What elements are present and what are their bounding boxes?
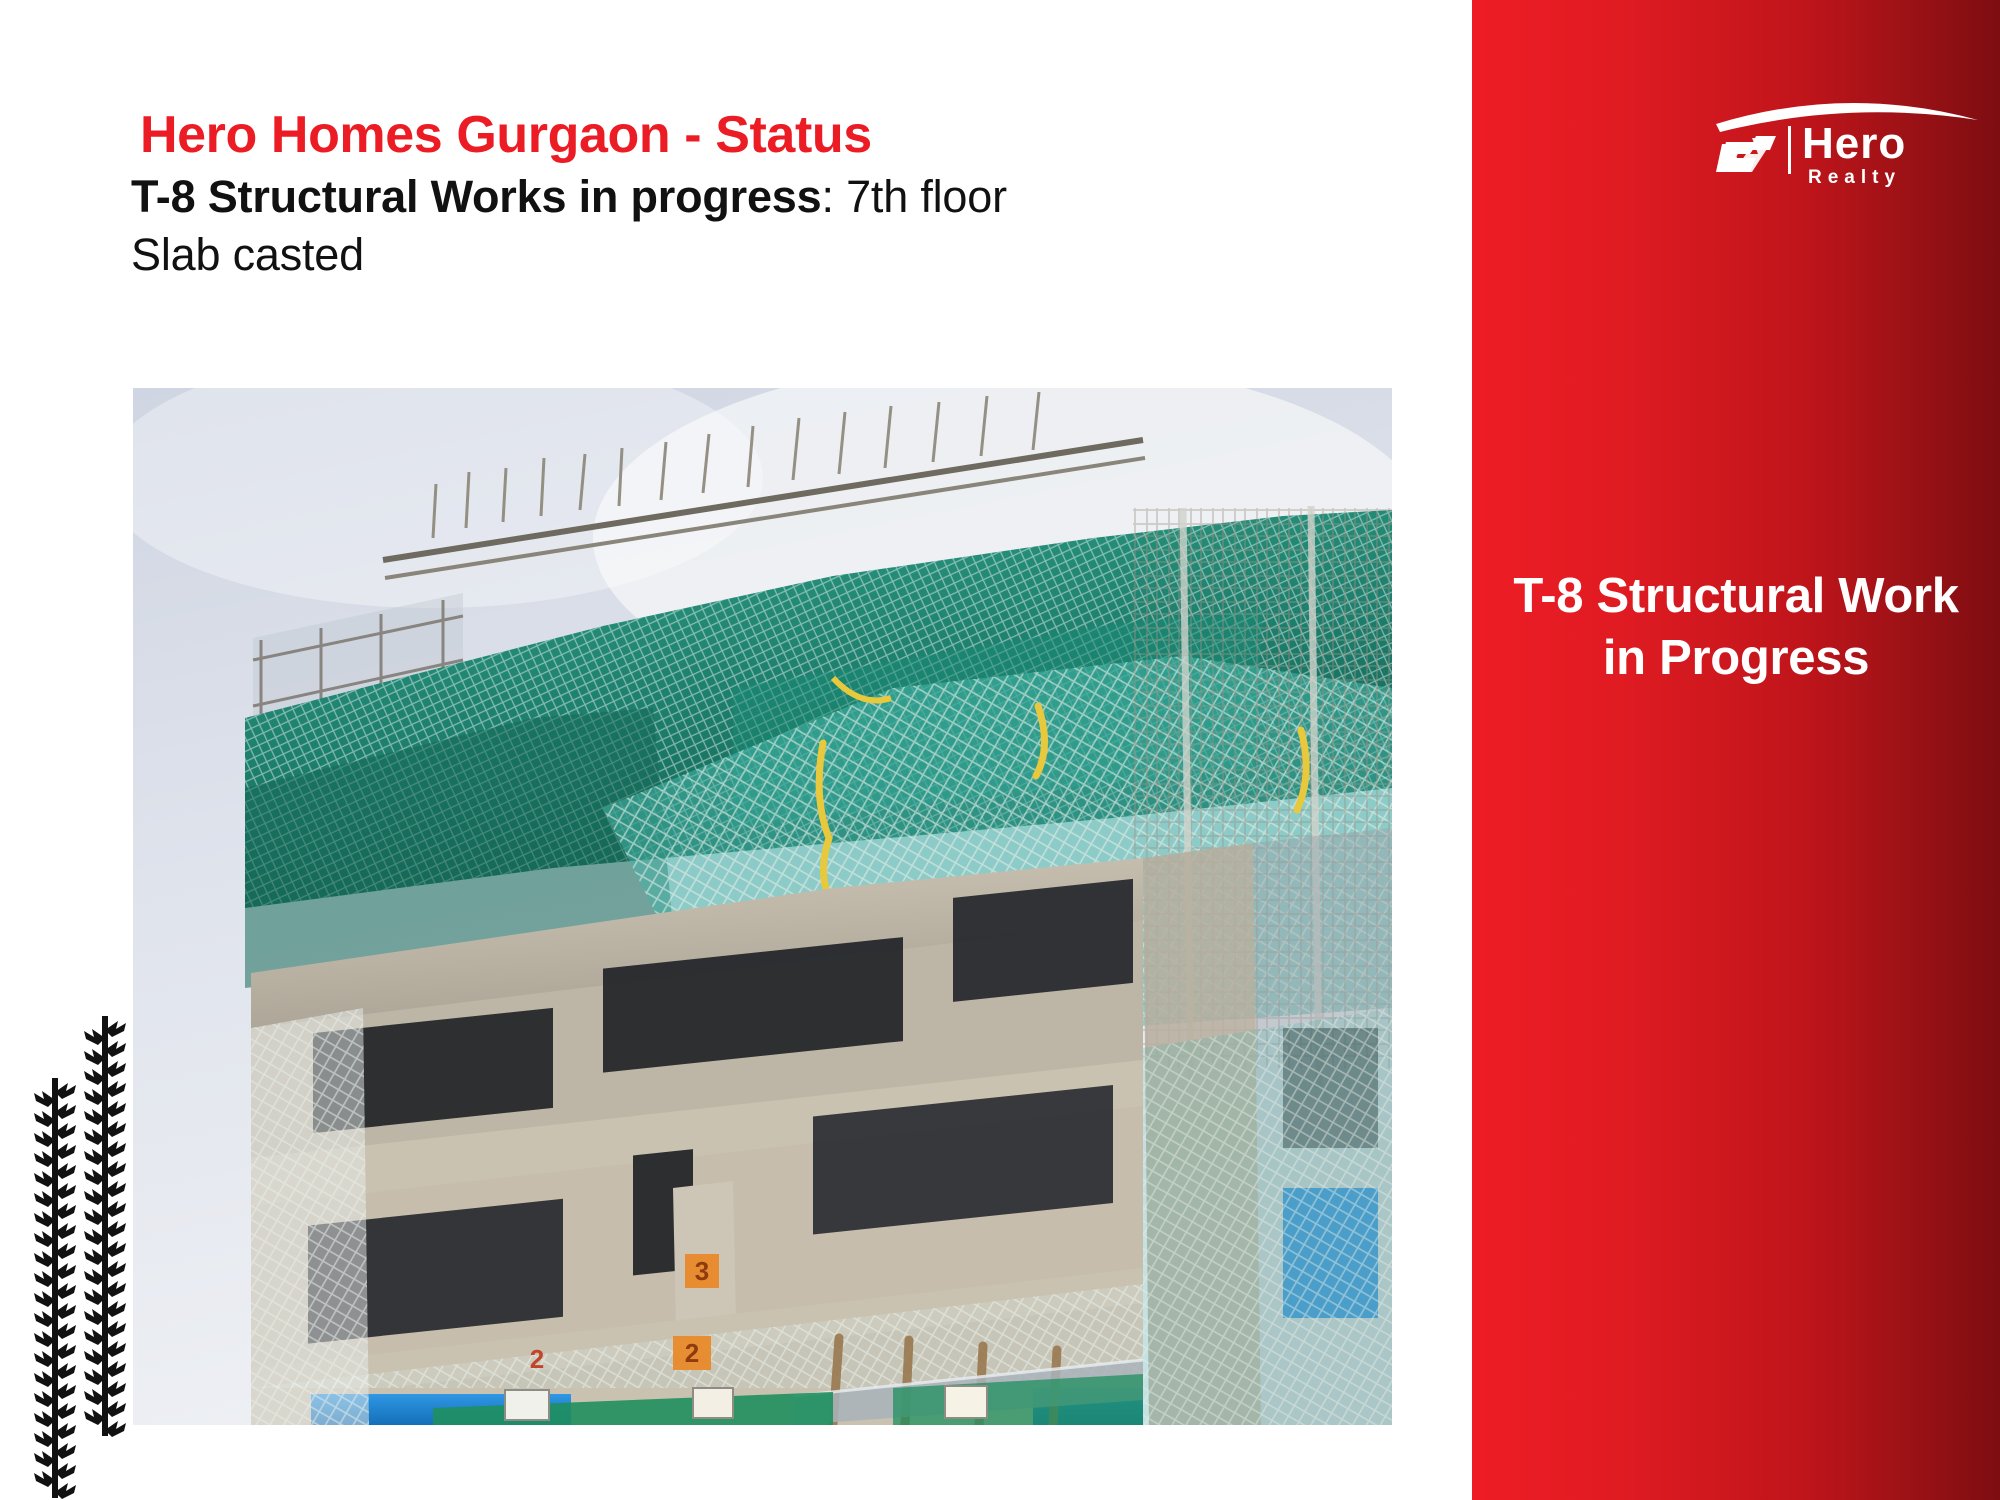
subtitle-second-line: Slab casted — [131, 229, 364, 280]
subtitle-bold-part: T-8 Structural Works in progress — [131, 171, 821, 222]
svg-text:Hero: Hero — [1802, 119, 1906, 168]
subtitle-separator: : — [821, 171, 846, 222]
svg-text:2: 2 — [530, 1344, 544, 1374]
svg-text:2: 2 — [685, 1338, 699, 1368]
page-title: Hero Homes Gurgaon - Status — [140, 105, 872, 165]
subtitle-rest-part: 7th floor — [846, 171, 1007, 222]
slide-canvas: Hero Homes Gurgaon - Status T-8 Structur… — [0, 0, 2000, 1500]
wheat-stalk-motif-icon — [20, 960, 150, 1500]
subtitle-block: T-8 Structural Works in progress: 7th fl… — [131, 168, 1391, 283]
svg-text:Realty: Realty — [1808, 167, 1901, 188]
svg-text:3: 3 — [695, 1256, 709, 1286]
hero-realty-logo: Hero Realty — [1712, 80, 1982, 190]
panel-caption: T-8 Structural Work in Progress — [1500, 565, 1972, 689]
construction-photo: 3 2 2 — [133, 388, 1392, 1425]
right-accent-panel — [1472, 0, 2000, 1500]
